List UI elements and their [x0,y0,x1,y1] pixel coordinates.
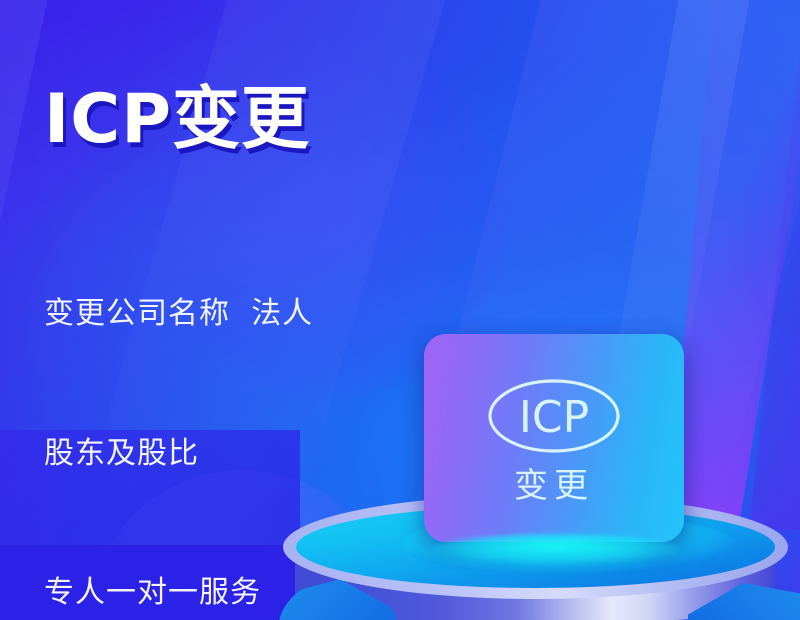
subtitle-line-2: 股东及股比 [44,431,464,478]
icp-badge-text: ICP [519,392,589,443]
headline-block: ICP变更 变更公司名称 法人 股东及股比 专人一对一服务 [44,86,464,620]
subtitle-line-3: 专人一对一服务 [44,570,464,617]
icp-card-label: 变更 [514,469,594,503]
card-underglow [432,534,680,564]
page-title: ICP变更 [44,86,464,154]
icp-ellipse-icon: ICP [484,377,624,455]
subtitle-block: 变更公司名称 法人 股东及股比 专人一对一服务 [44,198,464,620]
subtitle-line-1: 变更公司名称 法人 [44,291,464,338]
promo-banner: ICP 变更 ICP变更 变更公司名称 法人 股东及股比 专人一对一服务 [0,0,800,620]
